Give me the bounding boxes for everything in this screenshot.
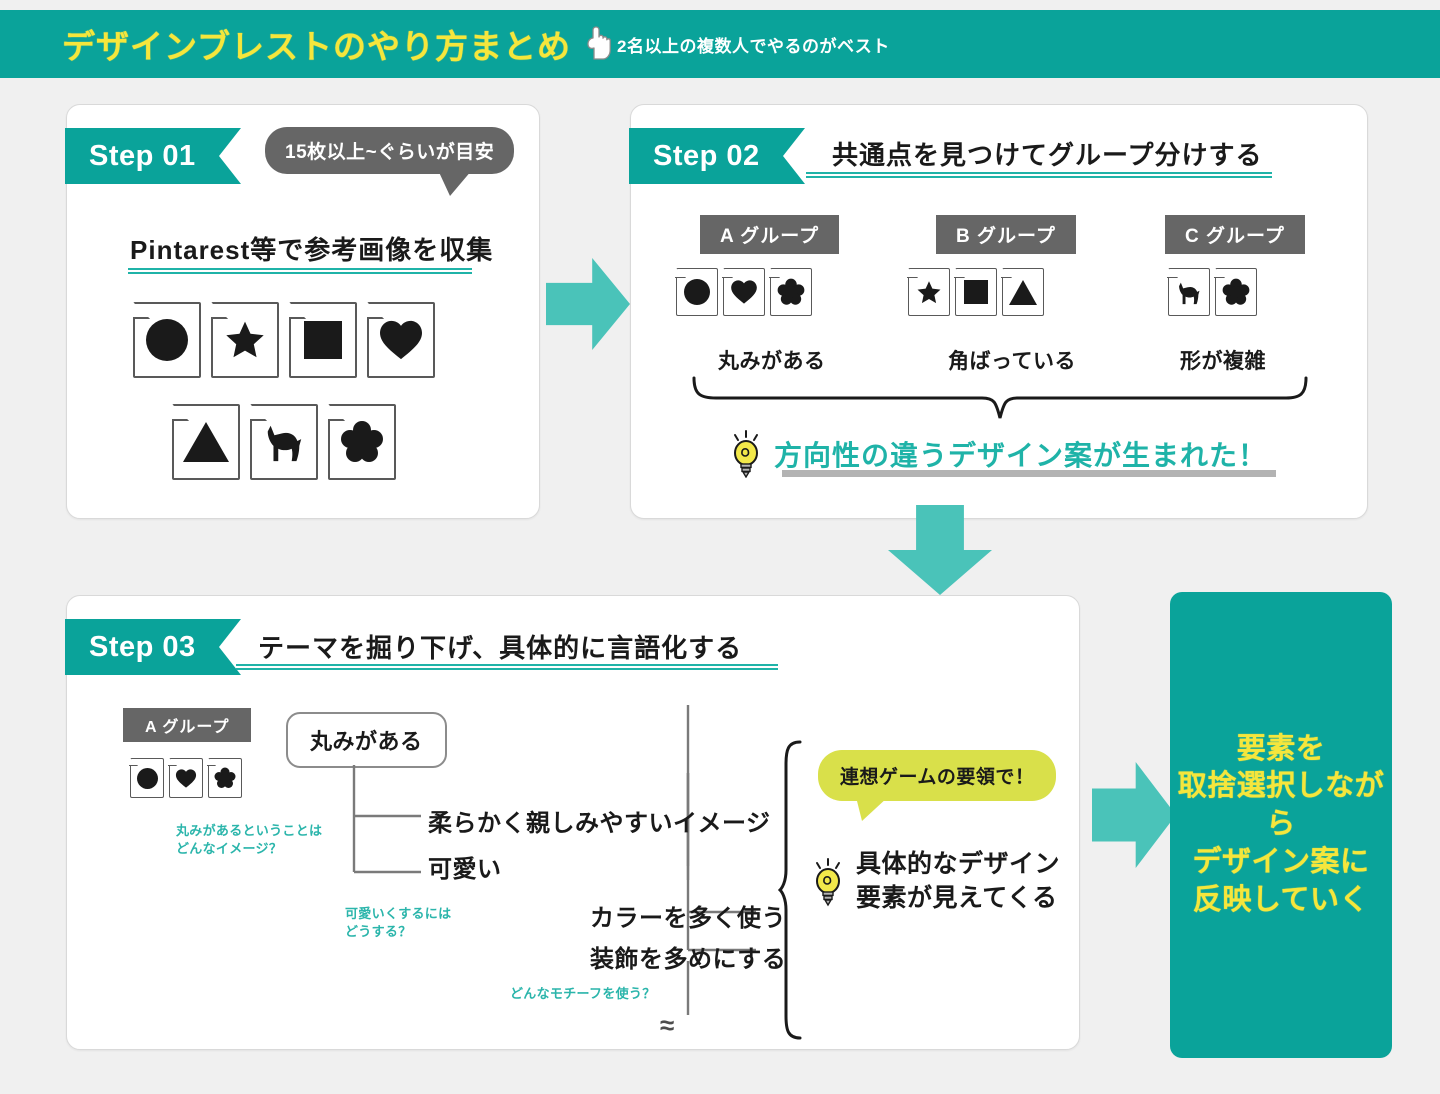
card-fold-icon — [722, 267, 733, 278]
triangle-shape-icon — [1009, 280, 1037, 305]
group-c-cards — [1168, 268, 1257, 316]
circle-shape-icon — [684, 279, 710, 305]
heart-shape-icon — [730, 279, 758, 305]
card-fold-icon — [211, 302, 228, 319]
square-shape-icon — [304, 321, 342, 359]
question-2-line-2: どうする？ — [345, 923, 451, 941]
step-03-ribbon-label: Step 03 — [89, 631, 196, 664]
heart-shape-icon — [378, 319, 424, 361]
step-03-conclusion: 具体的なデザイン 要素が見えてくる — [810, 848, 1060, 916]
conclusion-line-2: 要素が見えてくる — [856, 882, 1060, 916]
step-01-heading: Pintarest等で参考画像を収集 — [130, 230, 493, 267]
card-fold-icon — [954, 267, 965, 278]
group-b-caption: 角ばっている — [948, 345, 1076, 375]
group-a-caption: 丸みがある — [718, 345, 826, 375]
card-triangle — [1002, 268, 1044, 316]
star-shape-icon — [915, 279, 943, 306]
step-03-root-bubble: 丸みがある — [286, 712, 447, 768]
group-label-a: A グループ — [700, 215, 839, 254]
group-a-cards — [676, 268, 812, 316]
card-fold-icon — [129, 757, 138, 766]
final-line-1: 要素を — [1170, 731, 1392, 769]
card-fold-icon — [289, 302, 306, 319]
group-c-caption: 形が複雑 — [1180, 345, 1266, 375]
triangle-shape-icon — [183, 422, 229, 462]
card-fold-icon — [250, 404, 267, 421]
card-circle — [130, 758, 164, 798]
card-fold-icon — [168, 757, 177, 766]
card-circle — [676, 268, 718, 316]
card-flower — [1215, 268, 1257, 316]
dog-shape-icon — [261, 420, 307, 464]
card-star — [211, 302, 279, 378]
header-subtitle: 2名以上の複数人でやるのがベスト — [617, 32, 890, 57]
step-02-conclusion-underline — [782, 470, 1276, 477]
final-line-4: 反映していく — [1170, 882, 1392, 920]
step-01-ribbon: Step 01 — [65, 128, 241, 184]
card-flower — [328, 404, 396, 480]
star-shape-icon — [222, 318, 268, 362]
final-summary-text: 要素を 取捨選択しながら デザイン案に 反映していく — [1170, 731, 1392, 919]
square-shape-icon — [964, 280, 988, 304]
ribbon-notch — [219, 128, 241, 184]
group-b-cards — [908, 268, 1044, 316]
card-fold-icon — [133, 302, 150, 319]
card-heart — [367, 302, 435, 378]
flower-shape-icon — [214, 767, 236, 789]
card-fold-icon — [675, 267, 686, 278]
card-square — [955, 268, 997, 316]
step-03-question-3: どんなモチーフを使う？ — [510, 985, 656, 1003]
step-02-heading: 共通点を見つけてグループ分けする — [832, 135, 1262, 172]
card-flower — [208, 758, 242, 798]
step-02-conclusion-text: 方向性の違うデザイン案が生まれた！ — [774, 434, 1267, 474]
circle-shape-icon — [137, 768, 158, 789]
arrow-right-icon — [546, 258, 630, 350]
step-03-heading-underline — [236, 664, 778, 670]
card-fold-icon — [367, 302, 384, 319]
arrow-right-icon — [1092, 762, 1176, 868]
flower-shape-icon — [1222, 278, 1250, 306]
question-2-line-1: 可愛いくするには — [345, 905, 451, 923]
group-label-c: C グループ — [1165, 215, 1305, 254]
dog-shape-icon — [1175, 279, 1203, 306]
card-fold-icon — [1001, 267, 1012, 278]
flower-shape-icon — [340, 420, 384, 464]
lightbulb-icon — [728, 430, 764, 478]
step-03-question-1: 丸みがあるということは どんなイメージ？ — [176, 822, 322, 857]
pointing-hand-icon — [585, 26, 611, 65]
card-fold-icon — [907, 267, 918, 278]
card-fold-icon — [328, 404, 345, 421]
step-01-ribbon-label: Step 01 — [89, 140, 196, 173]
step-03-branch-4: 装飾を多めにする — [590, 939, 786, 974]
question-1-line-2: どんなイメージ？ — [176, 840, 322, 858]
card-fold-icon — [172, 404, 189, 421]
card-fold-icon — [769, 267, 780, 278]
step-03-branch-2: 可愛い — [428, 849, 502, 884]
heart-shape-icon — [175, 768, 197, 789]
step-03-group-a-cards — [130, 758, 242, 798]
card-fold-icon — [1167, 267, 1178, 278]
lightbulb-icon — [810, 857, 846, 907]
card-triangle — [172, 404, 240, 480]
step-01-hint-bubble: 15枚以上~ぐらいが目安 — [265, 127, 514, 174]
final-line-2: 取捨選択しながら — [1170, 768, 1392, 843]
card-fold-icon — [1214, 267, 1225, 278]
card-circle — [133, 302, 201, 378]
step-01-heading-underline — [128, 268, 472, 274]
step-01-cards-row-1 — [133, 302, 435, 378]
page-title: デザインブレストのやり方まとめ — [62, 20, 571, 68]
card-fold-icon — [207, 757, 216, 766]
card-dog — [250, 404, 318, 480]
card-flower — [770, 268, 812, 316]
final-line-3: デザイン案に — [1170, 844, 1392, 882]
flower-shape-icon — [777, 278, 805, 306]
step-02-ribbon-label: Step 02 — [653, 140, 760, 173]
conclusion-line-1: 具体的なデザイン — [856, 848, 1060, 882]
step-02-heading-underline — [806, 172, 1272, 178]
final-summary-box: 要素を 取捨選択しながら デザイン案に 反映していく — [1170, 592, 1392, 1058]
step-01-cards-row-2 — [172, 404, 396, 480]
question-1-line-1: 丸みがあるということは — [176, 822, 322, 840]
group-label-b: B グループ — [936, 215, 1076, 254]
step-03-heading: テーマを掘り下げ、具体的に言語化する — [258, 628, 742, 665]
step-03-right-brace — [778, 740, 808, 1040]
step-03-conclusion-text: 具体的なデザイン 要素が見えてくる — [856, 848, 1060, 916]
ribbon-notch — [783, 128, 805, 184]
card-dog — [1168, 268, 1210, 316]
card-heart — [169, 758, 203, 798]
card-heart — [723, 268, 765, 316]
step-03-group-label-a: A グループ — [123, 708, 251, 742]
approx-symbol: ≈ — [660, 1010, 674, 1041]
page-header: デザインブレストのやり方まとめ 2名以上の複数人でやるのがベスト — [0, 10, 1440, 78]
step-03-yellow-bubble: 連想ゲームの要領で！ — [818, 750, 1056, 801]
step-03-question-2: 可愛いくするには どうする？ — [345, 905, 451, 940]
step-03-branch-1: 柔らかく親しみやすいイメージ — [428, 803, 771, 838]
circle-shape-icon — [146, 319, 188, 361]
card-square — [289, 302, 357, 378]
step-02-ribbon: Step 02 — [629, 128, 805, 184]
step-03-ribbon: Step 03 — [65, 619, 241, 675]
step-03-branch-3: カラーを多く使う — [590, 898, 786, 933]
grouping-brace — [690, 372, 1310, 424]
card-star — [908, 268, 950, 316]
